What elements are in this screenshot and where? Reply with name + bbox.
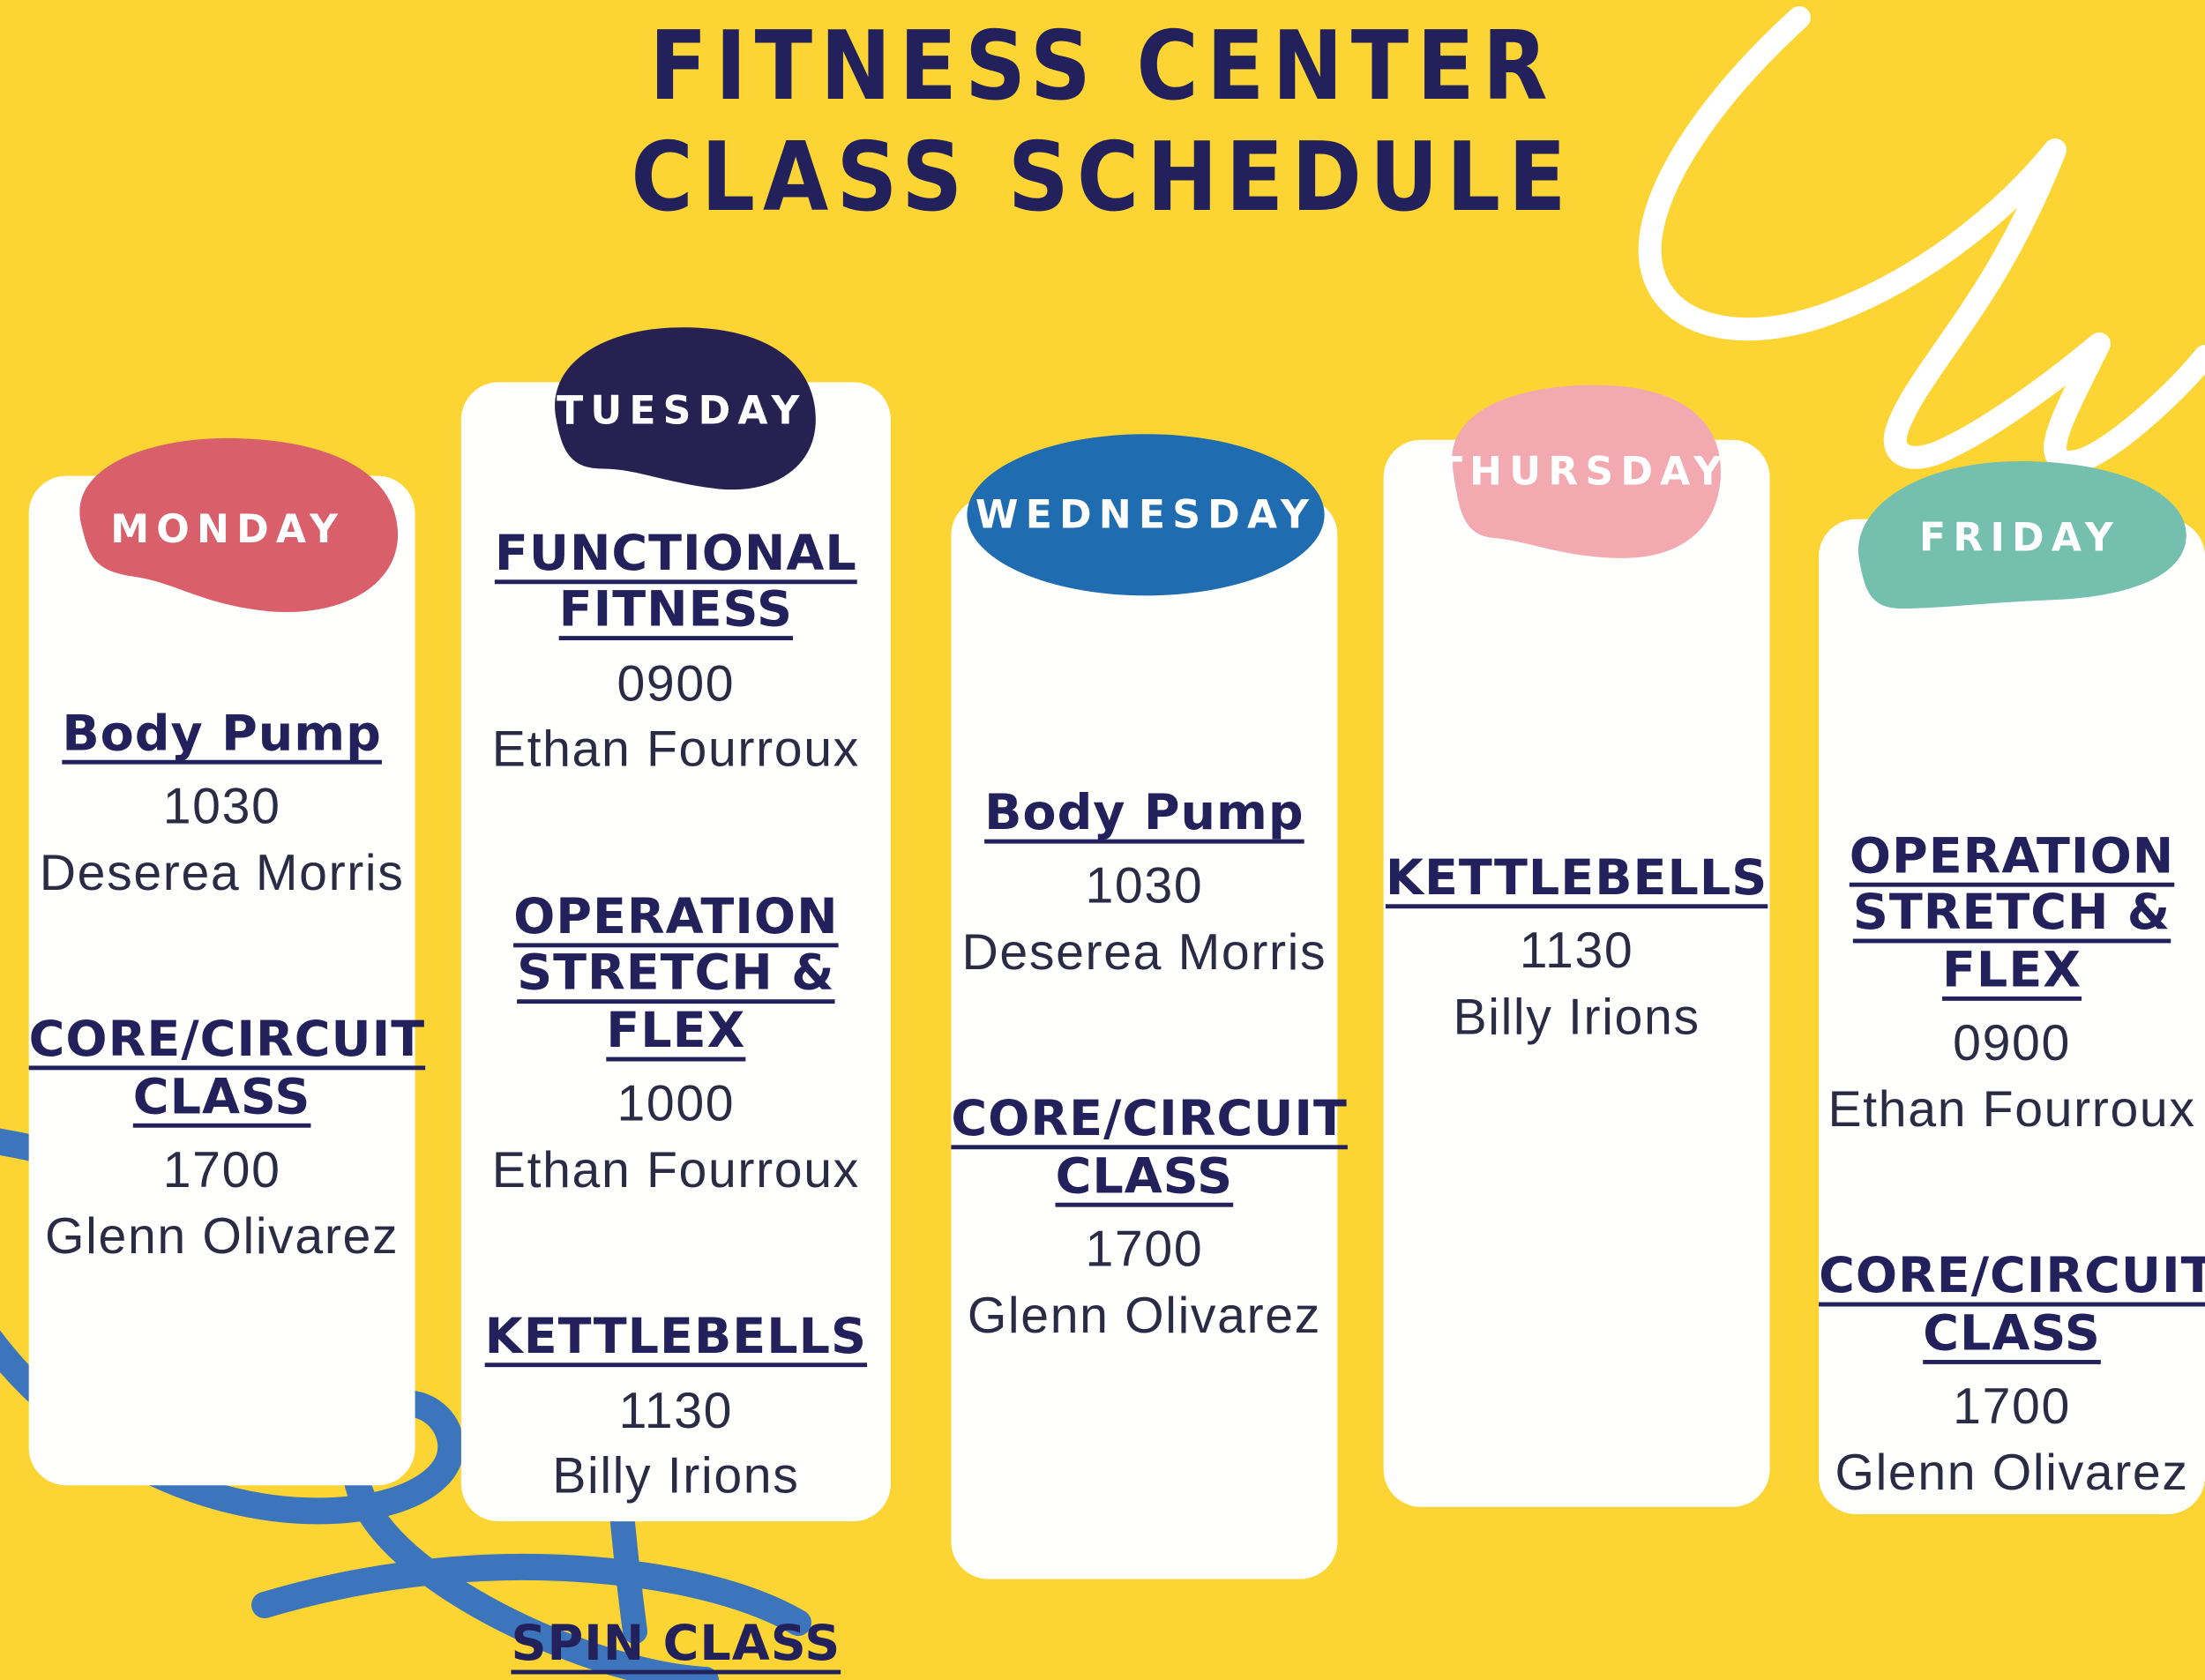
day-label-thursday: THURSDAY xyxy=(1436,450,1729,495)
class-name: CORE/CIRCUIT CLASS xyxy=(1819,1250,2205,1363)
class-name: FUNCTIONAL FITNESS xyxy=(461,526,891,640)
schedule-board: MONDAY Body Pump 1030 Deserea Morris COR… xyxy=(0,0,2205,1680)
class-name: SPIN CLASS xyxy=(461,1616,891,1672)
day-badge-monday: MONDAY xyxy=(55,433,400,628)
class-time: 1030 xyxy=(29,775,415,840)
class-entry: CORE/CIRCUIT CLASS 1700 Glenn Olivarez xyxy=(1819,1250,2205,1506)
class-time: 1030 xyxy=(951,855,1337,920)
class-entry: CORE/CIRCUIT CLASS 1700 Glenn Olivarez xyxy=(29,1013,415,1270)
class-instructor: Glenn Olivarez xyxy=(29,1204,415,1269)
class-name: KETTLEBELLS xyxy=(461,1310,891,1366)
class-time: 0900 xyxy=(1819,1012,2205,1077)
class-list-thursday: KETTLEBELLS 1130 Billy Irions xyxy=(1384,851,1770,1050)
poster-title: FITNESS CENTER CLASS SCHEDULE xyxy=(0,16,2205,218)
class-list-wednesday: Body Pump 1030 Deserea Morris CORE/CIRCU… xyxy=(951,786,1337,1348)
day-label-tuesday: TUESDAY xyxy=(557,389,807,434)
class-name: CORE/CIRCUIT CLASS xyxy=(29,1013,415,1127)
class-instructor: Ethan Fourroux xyxy=(461,717,891,782)
day-label-friday: FRIDAY xyxy=(1919,516,2120,561)
class-instructor: Glenn Olivarez xyxy=(951,1283,1337,1348)
class-entry: KETTLEBELLS 1130 Billy Irions xyxy=(1384,851,1770,1050)
day-label-wednesday: WEDNESDAY xyxy=(975,493,1316,538)
day-badge-wednesday: WEDNESDAY xyxy=(966,433,1326,599)
class-name: OPERATION STRETCH & FLEX xyxy=(461,890,891,1060)
title-line-1: FITNESS CENTER xyxy=(0,16,2205,118)
class-entry: FUNCTIONAL FITNESS 0900 Ethan Fourroux xyxy=(461,526,891,783)
title-line-2: CLASS SCHEDULE xyxy=(0,127,2205,229)
class-name: Body Pump xyxy=(951,786,1337,842)
class-instructor: Deserea Morris xyxy=(951,920,1337,985)
day-badge-thursday: THURSDAY xyxy=(1439,382,1727,562)
class-list-monday: Body Pump 1030 Deserea Morris CORE/CIRCU… xyxy=(29,706,415,1269)
day-label-monday: MONDAY xyxy=(110,508,345,553)
day-badge-tuesday: TUESDAY xyxy=(545,325,818,497)
class-time: 1130 xyxy=(461,1378,891,1444)
class-time: 1700 xyxy=(29,1139,415,1204)
class-entry: Body Pump 1030 Deserea Morris xyxy=(29,706,415,906)
class-name: CORE/CIRCUIT CLASS xyxy=(951,1093,1337,1206)
class-instructor: Billy Irions xyxy=(461,1444,891,1509)
class-name: OPERATION STRETCH & FLEX xyxy=(1819,829,2205,999)
class-name: KETTLEBELLS xyxy=(1384,851,1770,907)
class-time: 1700 xyxy=(951,1218,1337,1283)
class-entry: OPERATION STRETCH & FLEX 0900 Ethan Four… xyxy=(1819,829,2205,1142)
class-instructor: Glenn Olivarez xyxy=(1819,1440,2205,1505)
class-time: 0900 xyxy=(461,652,891,717)
day-badge-friday: FRIDAY xyxy=(1850,459,2189,617)
class-entry: Body Pump 1030 Deserea Morris xyxy=(951,786,1337,985)
class-time: 1130 xyxy=(1384,919,1770,984)
class-time: 1000 xyxy=(461,1071,891,1137)
class-list-friday: OPERATION STRETCH & FLEX 0900 Ethan Four… xyxy=(1819,829,2205,1505)
class-entry: SPIN CLASS 1700 - 1800 Olga Vinson xyxy=(461,1616,891,1680)
class-instructor: Billy Irions xyxy=(1384,985,1770,1050)
class-entry: OPERATION STRETCH & FLEX 1000 Ethan Four… xyxy=(461,890,891,1203)
class-list-tuesday: FUNCTIONAL FITNESS 0900 Ethan Fourroux O… xyxy=(461,526,891,1680)
class-name: Body Pump xyxy=(29,706,415,763)
class-instructor: Deserea Morris xyxy=(29,840,415,906)
class-instructor: Ethan Fourroux xyxy=(461,1138,891,1203)
class-entry: KETTLEBELLS 1130 Billy Irions xyxy=(461,1310,891,1509)
class-instructor: Ethan Fourroux xyxy=(1819,1077,2205,1142)
class-time: 1700 xyxy=(1819,1375,2205,1440)
class-entry: CORE/CIRCUIT CLASS 1700 Glenn Olivarez xyxy=(951,1093,1337,1349)
